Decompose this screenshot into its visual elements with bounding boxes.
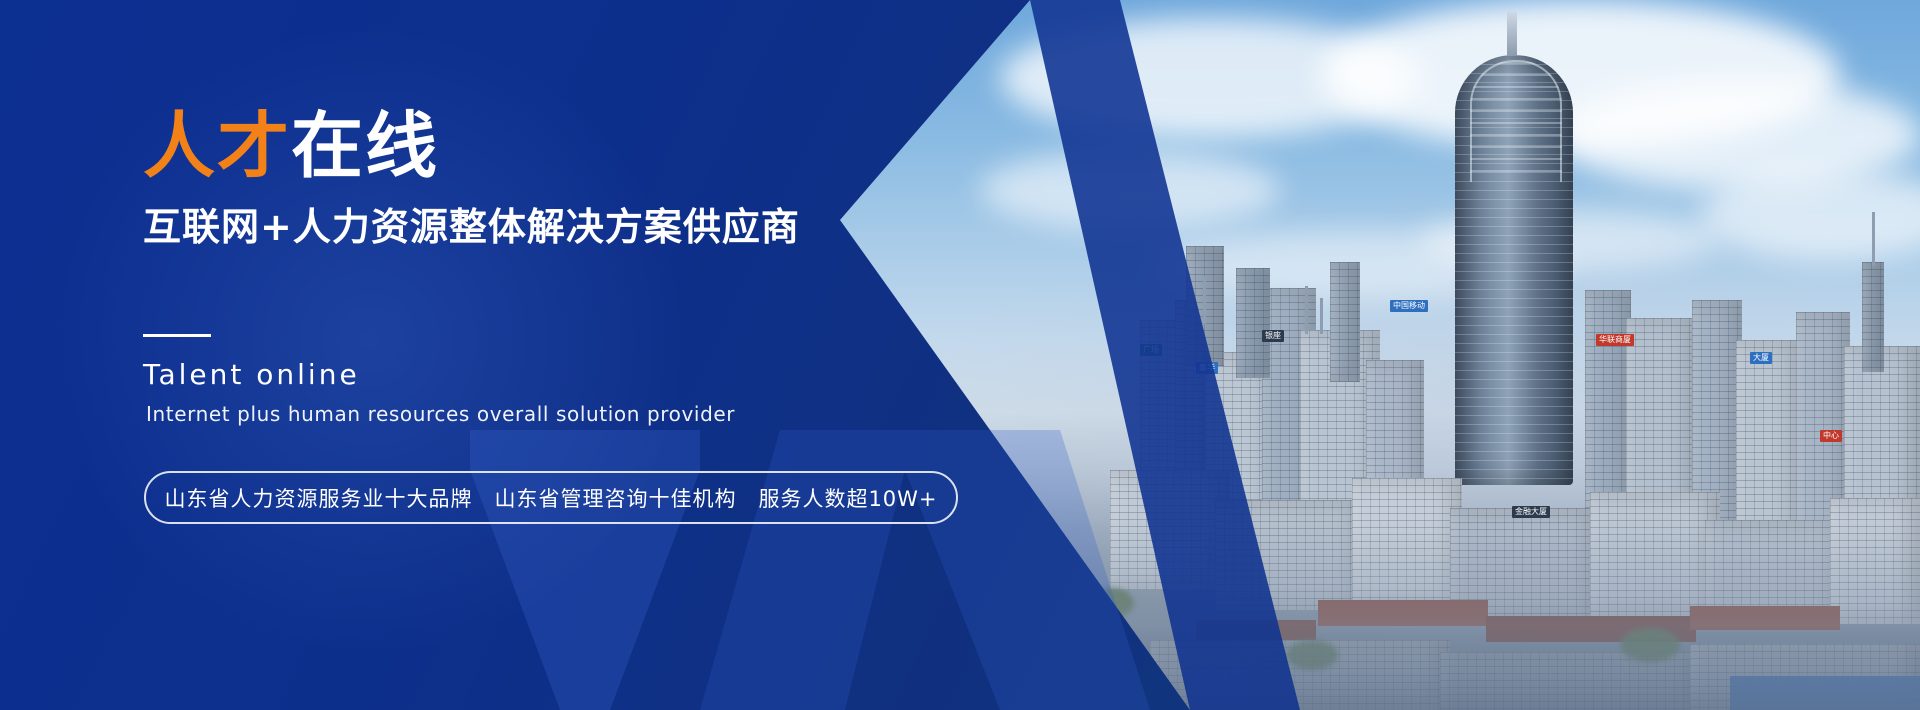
building	[1236, 268, 1270, 378]
credentials-badge-text: 山东省人力资源服务业十大品牌 山东省管理咨询十佳机构 服务人数超10W+	[164, 483, 937, 513]
english-subtitle: Internet plus human resources overall so…	[146, 402, 735, 426]
divider-rule	[143, 334, 211, 337]
building	[1330, 262, 1360, 382]
page-subtitle: 互联网+人力资源整体解决方案供应商	[143, 196, 800, 251]
building	[1862, 262, 1884, 372]
building-sign: 华联商厦	[1596, 334, 1634, 346]
english-title: Talent online	[143, 358, 360, 391]
antenna-mast	[1203, 276, 1206, 324]
banner-content: 人才在线 互联网+人力资源整体解决方案供应商 Talent online Int…	[143, 0, 1043, 710]
tower-crown	[1470, 60, 1562, 182]
antenna-mast	[1872, 212, 1875, 266]
hero-banner: 泰华 中国移动 华联商厦 银座 金融大厦 广场 大厦 中心 人才在线 互联网+人…	[0, 0, 1920, 710]
credentials-badge: 山东省人力资源服务业十大品牌 山东省管理咨询十佳机构 服务人数超10W+	[144, 471, 958, 524]
headline-accent-text: 人才	[143, 104, 291, 188]
antenna-mast	[1305, 286, 1308, 334]
building-sign: 中国移动	[1390, 300, 1428, 312]
building-sign: 中心	[1820, 430, 1842, 442]
headline-white-text: 在线	[291, 104, 439, 188]
building-sign: 金融大厦	[1512, 506, 1550, 518]
page-title: 人才在线	[143, 110, 439, 182]
antenna-mast	[1320, 298, 1323, 334]
building-sign: 银座	[1262, 330, 1284, 342]
building-sign: 大厦	[1750, 352, 1772, 364]
